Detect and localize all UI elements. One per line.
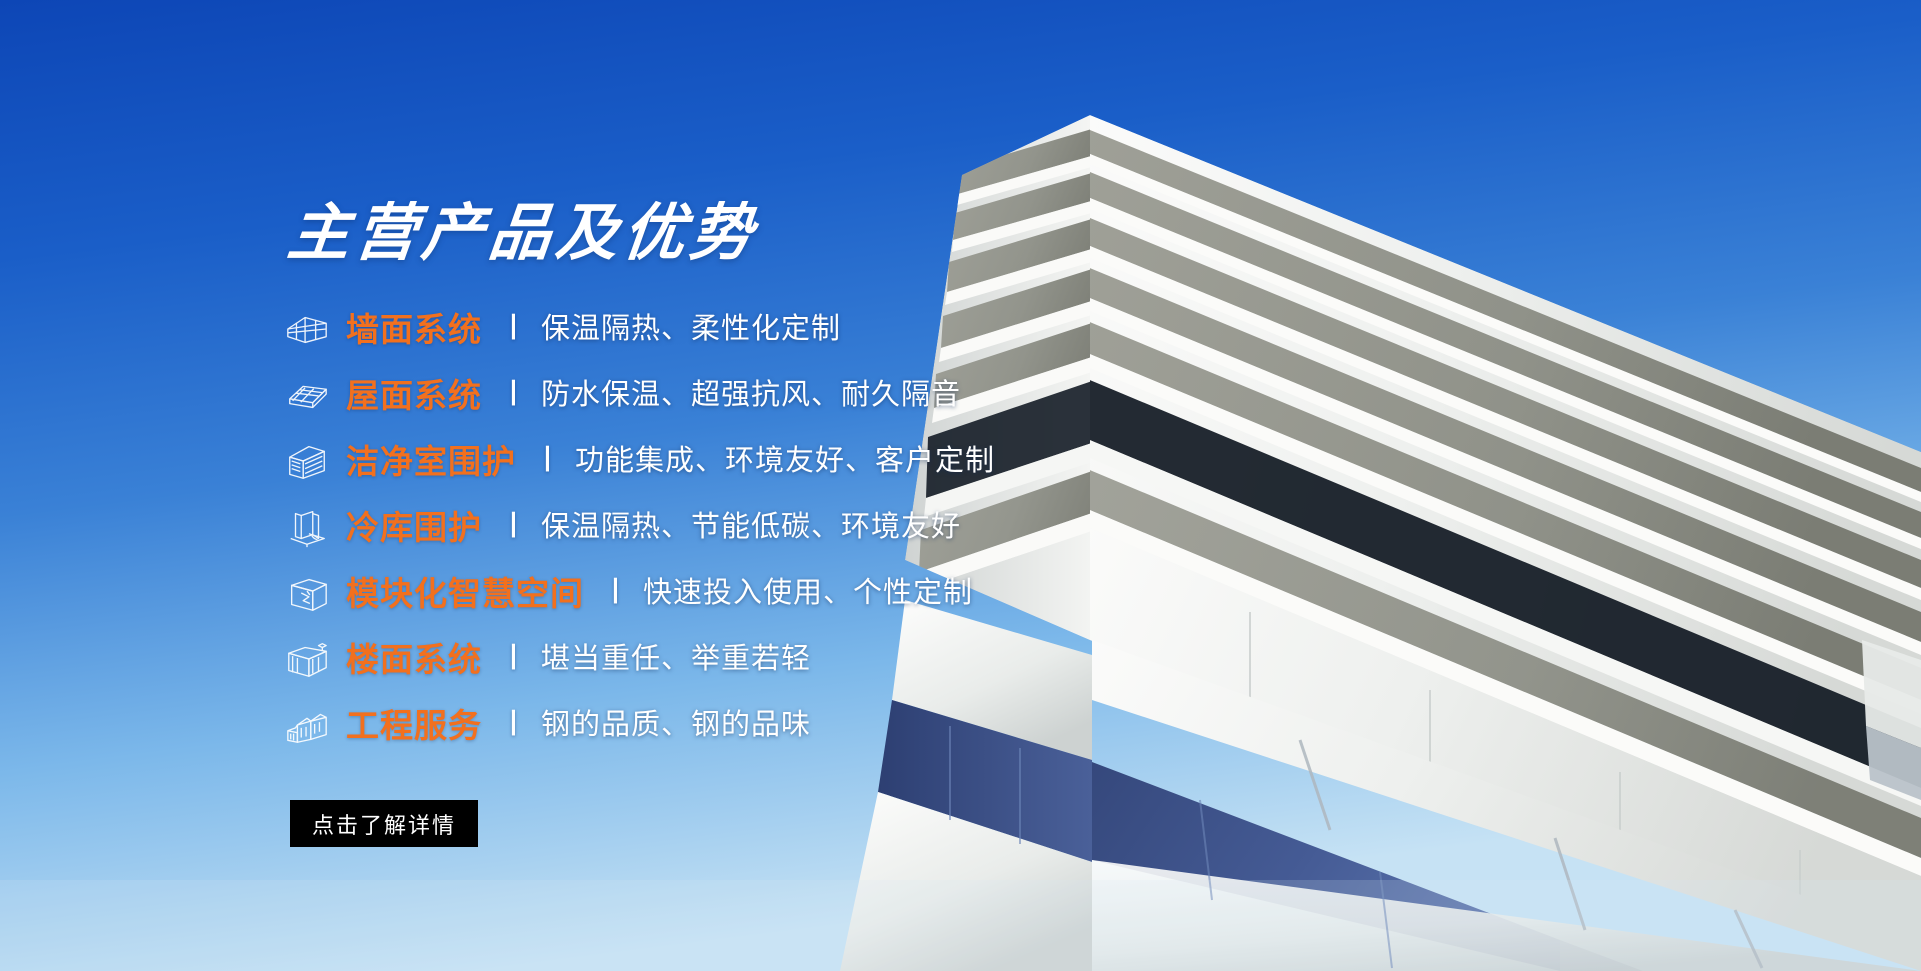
feature-row[interactable]: 冷库围护 丨 保温隔热、节能低碳、环境友好 bbox=[284, 494, 1384, 560]
feature-separator: 丨 bbox=[534, 447, 561, 474]
feature-name: 屋面系统 bbox=[346, 379, 482, 412]
feature-separator: 丨 bbox=[602, 579, 629, 606]
feature-name: 洁净室围护 bbox=[346, 445, 516, 478]
floor-deck-icon bbox=[284, 635, 346, 683]
feature-separator: 丨 bbox=[500, 381, 527, 408]
feature-row[interactable]: 洁净室围护 丨 功能集成、环境友好、客户定制 bbox=[284, 428, 1384, 494]
feature-description: 堪当重任、举重若轻 bbox=[541, 645, 811, 674]
feature-name: 冷库围护 bbox=[346, 511, 482, 544]
modular-cube-icon bbox=[284, 569, 346, 617]
wall-panel-icon bbox=[284, 305, 346, 353]
engineering-service-icon bbox=[284, 701, 346, 749]
banner-content: 主营产品及优势 墙面系统 丨 保温隔热、柔性化定制 bbox=[0, 0, 1921, 971]
feature-name: 墙面系统 bbox=[346, 313, 482, 346]
page-title: 主营产品及优势 bbox=[285, 203, 761, 265]
feature-description: 保温隔热、节能低碳、环境友好 bbox=[541, 513, 961, 542]
learn-more-button[interactable]: 点击了解详情 bbox=[290, 800, 478, 847]
cleanroom-building-icon bbox=[284, 437, 346, 485]
roof-panel-icon bbox=[284, 371, 346, 419]
feature-description: 快速投入使用、个性定制 bbox=[643, 579, 973, 608]
feature-row[interactable]: 墙面系统 丨 保温隔热、柔性化定制 bbox=[284, 296, 1384, 362]
feature-list: 墙面系统 丨 保温隔热、柔性化定制 屋面系统 丨 防水保温、超强抗 bbox=[284, 296, 1384, 758]
hero-banner: 主营产品及优势 墙面系统 丨 保温隔热、柔性化定制 bbox=[0, 0, 1921, 971]
feature-description: 防水保温、超强抗风、耐久隔音 bbox=[541, 381, 961, 410]
feature-name: 模块化智慧空间 bbox=[346, 577, 584, 610]
feature-separator: 丨 bbox=[500, 711, 527, 738]
feature-name: 楼面系统 bbox=[346, 643, 482, 676]
feature-description: 功能集成、环境友好、客户定制 bbox=[575, 447, 995, 476]
feature-description: 钢的品质、钢的品味 bbox=[541, 711, 811, 740]
feature-separator: 丨 bbox=[500, 513, 527, 540]
feature-separator: 丨 bbox=[500, 315, 527, 342]
cold-storage-icon bbox=[284, 503, 346, 551]
feature-row[interactable]: 工程服务 丨 钢的品质、钢的品味 bbox=[284, 692, 1384, 758]
feature-row[interactable]: 屋面系统 丨 防水保温、超强抗风、耐久隔音 bbox=[284, 362, 1384, 428]
feature-row[interactable]: 楼面系统 丨 堪当重任、举重若轻 bbox=[284, 626, 1384, 692]
feature-separator: 丨 bbox=[500, 645, 527, 672]
feature-description: 保温隔热、柔性化定制 bbox=[541, 315, 841, 344]
feature-row[interactable]: 模块化智慧空间 丨 快速投入使用、个性定制 bbox=[284, 560, 1384, 626]
feature-name: 工程服务 bbox=[346, 709, 482, 742]
